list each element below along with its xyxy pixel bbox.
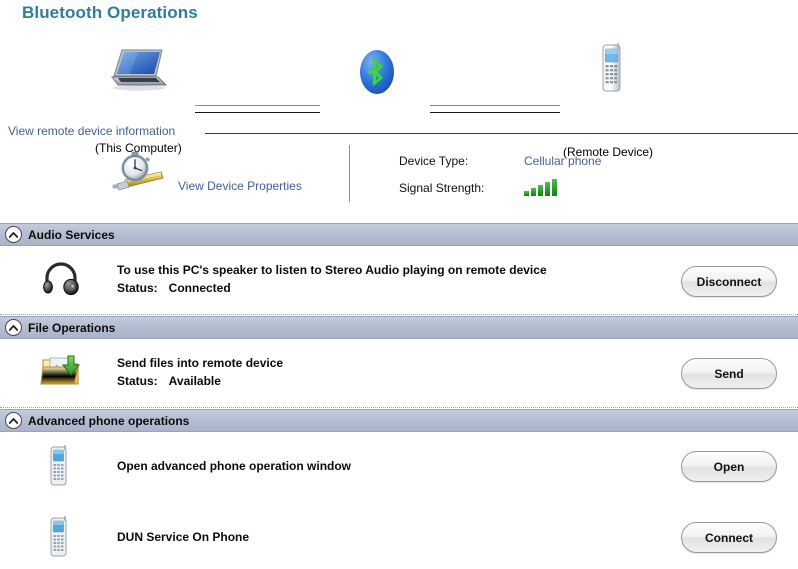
row-status: Status:Available <box>117 374 283 388</box>
device-type-value[interactable]: Cellular phone <box>524 154 601 168</box>
header-divider <box>205 133 798 134</box>
device-type-label: Device Type: <box>399 154 468 168</box>
row-text-block: To use this PC's speaker to listen to St… <box>117 263 547 295</box>
row-description: Open advanced phone operation window <box>117 459 351 473</box>
section-title: Audio Services <box>28 228 115 242</box>
row-text-block: Send files into remote device Status:Ava… <box>117 356 283 388</box>
connection-line-left <box>195 105 320 114</box>
connect-button[interactable]: Connect <box>681 522 777 553</box>
chevron-up-icon[interactable] <box>5 226 22 243</box>
section-title: File Operations <box>28 321 115 335</box>
row-dun-service: DUN Service On Phone Connect <box>0 509 798 567</box>
status-value: Available <box>169 374 221 388</box>
page-title: Bluetooth Operations <box>22 3 198 23</box>
section-header-advanced-phone-operations[interactable]: Advanced phone operations <box>0 409 798 432</box>
cellphone-icon <box>47 445 71 490</box>
chevron-up-icon[interactable] <box>5 319 22 336</box>
row-description: DUN Service On Phone <box>117 530 249 544</box>
status-label: Status: <box>117 281 158 295</box>
send-button[interactable]: Send <box>681 358 777 389</box>
row-send-files: Send files into remote device Status:Ava… <box>0 345 798 407</box>
device-properties-icon <box>105 150 167 198</box>
signal-strength-bars <box>524 176 557 196</box>
row-description: Send files into remote device <box>117 356 283 370</box>
cellphone-icon <box>47 516 71 561</box>
view-remote-device-information-link[interactable]: View remote device information <box>8 124 175 138</box>
connection-topology: (This Computer) (Remote Device) <box>0 38 798 128</box>
headphones-icon <box>42 261 80 300</box>
disconnect-button[interactable]: Disconnect <box>681 266 777 297</box>
laptop-icon <box>108 46 170 92</box>
row-text-block: DUN Service On Phone <box>117 530 249 544</box>
section-title: Advanced phone operations <box>28 414 189 428</box>
send-folder-icon <box>40 353 82 392</box>
signal-strength-label: Signal Strength: <box>399 181 484 195</box>
status-label: Status: <box>117 374 158 388</box>
device-properties-panel: View Device Properties Device Type: Cell… <box>0 140 798 220</box>
chevron-up-icon[interactable] <box>5 412 22 429</box>
status-value: Connected <box>169 281 231 295</box>
open-button[interactable]: Open <box>681 451 777 482</box>
view-device-properties-link[interactable]: View Device Properties <box>178 179 302 193</box>
row-description: To use this PC's speaker to listen to St… <box>117 263 547 277</box>
connection-line-right <box>430 105 560 114</box>
row-status: Status:Connected <box>117 281 547 295</box>
row-advanced-phone-window: Open advanced phone operation window Ope… <box>0 438 798 496</box>
section-separator <box>0 407 798 408</box>
section-header-audio-services[interactable]: Audio Services <box>0 223 798 246</box>
cellphone-icon <box>594 42 628 94</box>
row-stereo-audio: To use this PC's speaker to listen to St… <box>0 252 798 314</box>
section-header-file-operations[interactable]: File Operations <box>0 316 798 339</box>
bluetooth-icon <box>358 48 396 96</box>
row-text-block: Open advanced phone operation window <box>117 459 351 473</box>
section-separator <box>0 314 798 315</box>
properties-vertical-divider <box>349 145 350 202</box>
